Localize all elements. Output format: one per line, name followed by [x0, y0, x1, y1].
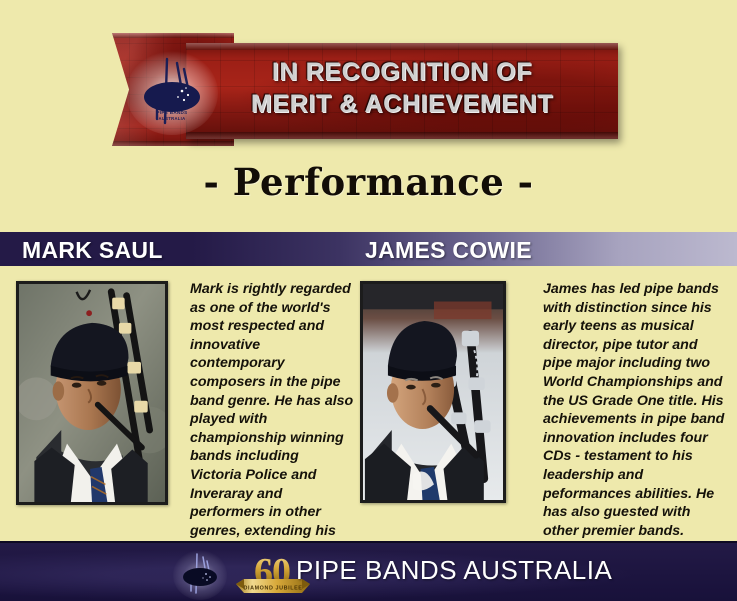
- flag-bottom-edge: [112, 141, 234, 146]
- footer-pipe-bands-australia-logo-icon: [172, 547, 228, 601]
- svg-text:AUSTRALIA: AUSTRALIA: [159, 116, 186, 121]
- recipient-name-mark-saul: MARK SAUL: [22, 237, 163, 264]
- pipe-bands-australia-logo-icon: PIPE BANDS AUSTRALIA: [124, 45, 220, 137]
- award-poster: IN RECOGNITION OF MERIT & ACHIEVEMENT: [0, 0, 737, 601]
- photo-mark-saul: [16, 281, 168, 505]
- banner-ribbon-shape: IN RECOGNITION OF MERIT & ACHIEVEMENT: [186, 43, 618, 139]
- header-banner: IN RECOGNITION OF MERIT & ACHIEVEMENT: [0, 0, 737, 155]
- footer-organisation-name: PIPE BANDS AUSTRALIA: [296, 555, 612, 586]
- footer-bar: 60 DIAMOND JUBILEE PIPE BANDS AUSTRALIA: [0, 541, 737, 601]
- banner-title-line-1: IN RECOGNITION OF: [186, 56, 618, 88]
- recipient-name-james-cowie: JAMES COWIE: [365, 237, 532, 264]
- banner-title-line-2: MERIT & ACHIEVEMENT: [186, 88, 618, 120]
- banner-title: IN RECOGNITION OF MERIT & ACHIEVEMENT: [186, 56, 618, 120]
- svg-text:DIAMOND JUBILEE: DIAMOND JUBILEE: [243, 586, 302, 592]
- page-title: - Performance -: [0, 160, 737, 204]
- photo-james-cowie: [360, 281, 506, 503]
- names-bar: MARK SAUL JAMES COWIE: [0, 232, 737, 266]
- flag-top-edge: [112, 33, 234, 38]
- bio-james-cowie: James has led pipe bands with distinctio…: [543, 280, 725, 540]
- svg-text:PIPE BANDS: PIPE BANDS: [156, 110, 187, 115]
